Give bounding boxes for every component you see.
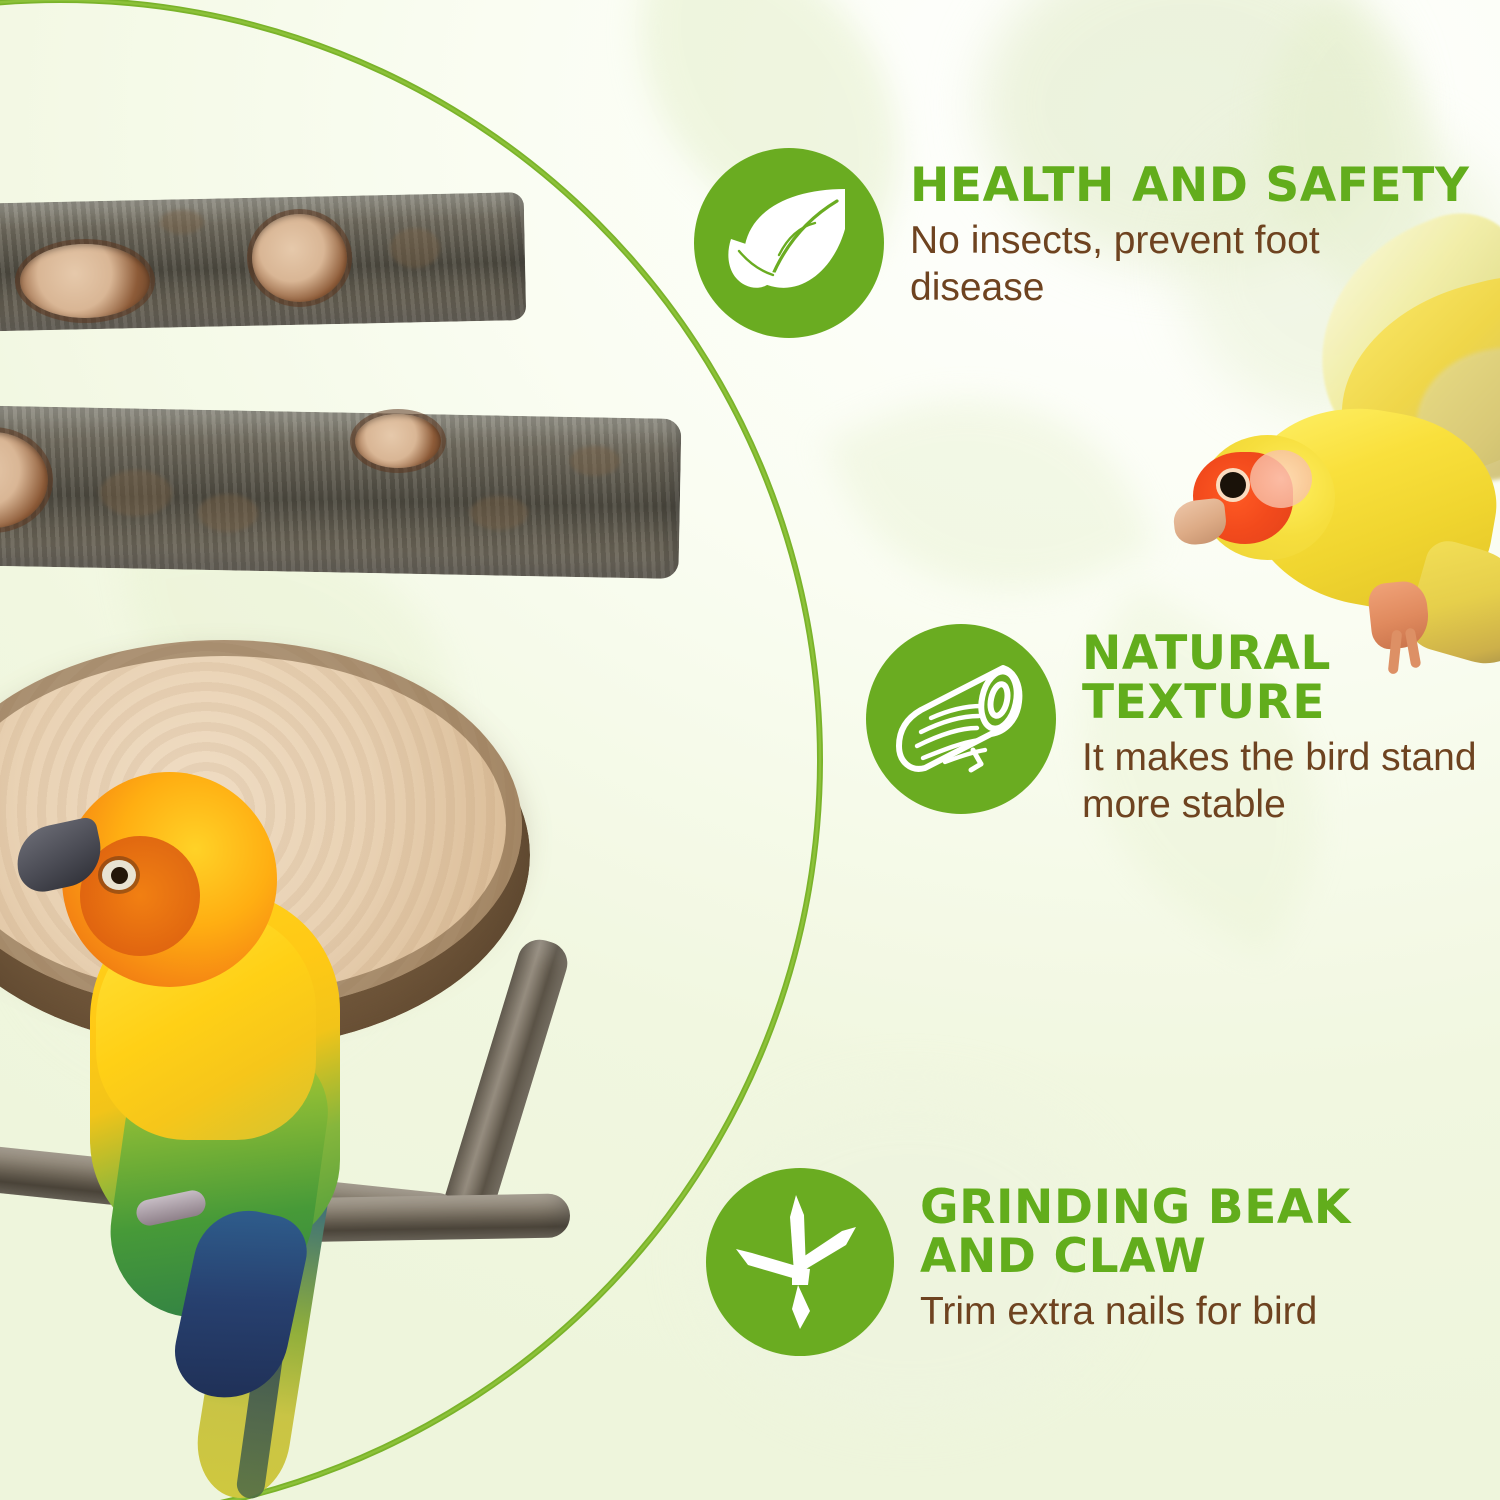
feature-description: Trim extra nails for bird	[920, 1288, 1440, 1336]
infographic-canvas: HEALTH AND SAFETY No insects, prevent fo…	[0, 0, 1500, 1500]
leaf-icon-badge	[694, 148, 884, 338]
feature-block-health-and-safety: HEALTH AND SAFETY No insects, prevent fo…	[694, 148, 1470, 338]
feature-heading: HEALTH AND SAFETY	[910, 162, 1470, 211]
feature-block-grinding-beak-and-claw: GRINDING BEAK AND CLAW Trim extra nails …	[706, 1168, 1480, 1356]
bird-claw-icon	[734, 1193, 866, 1331]
feature-heading: GRINDING BEAK AND CLAW	[920, 1184, 1480, 1282]
perch-stick-top	[0, 198, 525, 333]
perch-stick-middle	[0, 398, 695, 588]
log-icon-badge	[866, 624, 1056, 814]
leaf-icon	[723, 183, 855, 303]
feature-block-natural-texture: NATURAL TEXTURE It makes the bird stand …	[866, 624, 1500, 829]
log-icon	[891, 658, 1031, 780]
feature-description: No insects, prevent foot disease	[910, 217, 1350, 312]
sun-conure-parrot	[10, 740, 430, 1500]
feature-description: It makes the bird stand more stable	[1082, 734, 1500, 829]
bird-claw-icon-badge	[706, 1168, 894, 1356]
feature-heading: NATURAL TEXTURE	[1082, 630, 1412, 728]
